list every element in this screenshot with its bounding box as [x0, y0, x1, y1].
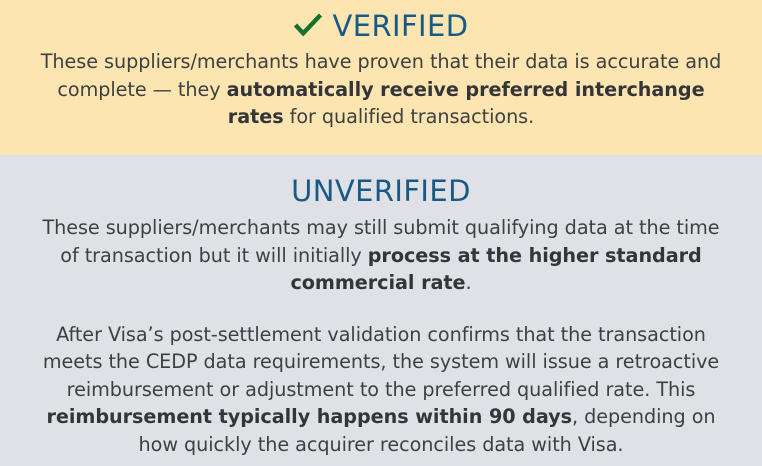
verified-heading-row: VERIFIED [294, 11, 469, 41]
unverified-description-1-text-2: . [465, 271, 471, 294]
check-mark-icon [294, 12, 322, 40]
unverified-description-2: After Visa’s post-settlement validation … [36, 321, 726, 459]
verification-status-infographic: VERIFIED These suppliers/merchants have … [0, 0, 762, 466]
verified-description: These suppliers/merchants have proven th… [38, 48, 724, 131]
unverified-heading: UNVERIFIED [291, 176, 471, 206]
unverified-description-2-text-1: After Visa’s post-settlement validation … [43, 323, 719, 401]
unverified-description-2-emphasis: reimbursement typically happens within 9… [46, 405, 572, 428]
unverified-panel: UNVERIFIED These suppliers/merchants may… [0, 155, 762, 466]
verified-panel: VERIFIED These suppliers/merchants have … [0, 0, 762, 155]
verified-heading: VERIFIED [333, 11, 469, 41]
unverified-description-1: These suppliers/merchants may still subm… [36, 214, 726, 297]
verified-description-text-2: for qualified transactions. [284, 105, 535, 128]
